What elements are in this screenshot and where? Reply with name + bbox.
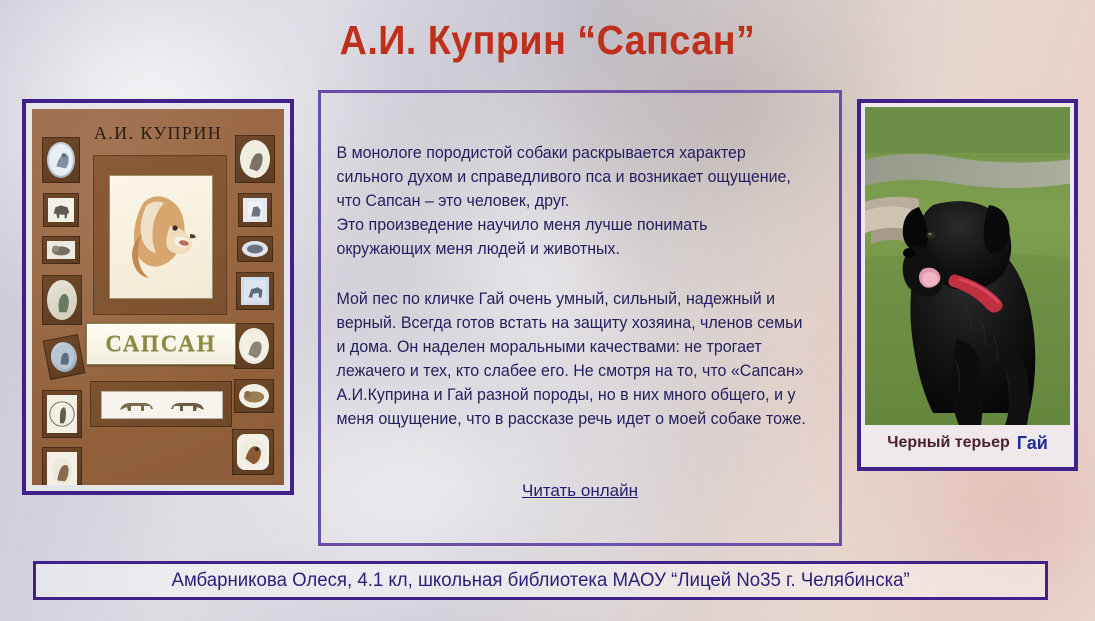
read-online-link[interactable]: Читать онлайн xyxy=(522,481,638,500)
dog-sketch-icon xyxy=(239,328,269,364)
read-online-link-wrapper: Читать онлайн xyxy=(321,481,839,501)
cover-medallion xyxy=(42,275,82,325)
footer-credit-text: Амбарникова Олеся, 4.1 кл, школьная библ… xyxy=(171,570,909,592)
dog-sketch-icon xyxy=(47,142,75,178)
cover-medallion xyxy=(232,429,274,475)
photo-caption: Черный терьер Гай xyxy=(865,425,1070,461)
dog-sketch-icon xyxy=(48,340,79,374)
dachshunds-illustration xyxy=(102,392,222,418)
cover-medallion xyxy=(43,193,79,227)
presentation-slide: А.И. Куприн “Сапсан” А.И. КУПРИН xyxy=(0,0,1095,621)
dog-portrait-illustration xyxy=(118,186,204,290)
book-cover-image: А.И. КУПРИН xyxy=(32,109,284,485)
cover-medallion xyxy=(238,193,272,227)
slide-title: А.И. Куприн “Сапсан” xyxy=(44,16,1051,64)
dog-sketch-icon xyxy=(242,241,268,257)
cover-medallion xyxy=(42,447,82,485)
cover-medallion xyxy=(43,334,86,380)
description-text: В монологе породистой собаки раскрываетс… xyxy=(321,93,823,431)
cover-portrait-image xyxy=(109,175,213,299)
dog-sketch-icon xyxy=(47,280,77,320)
cover-medallion xyxy=(42,236,80,264)
footer-bar: Амбарникова Олеся, 4.1 кл, школьная библ… xyxy=(33,561,1048,600)
dog-sketch-icon xyxy=(239,384,269,408)
black-terrier-photo-illustration xyxy=(865,107,1070,425)
dog-photo xyxy=(865,107,1070,425)
cover-portrait-frame xyxy=(93,155,227,315)
dog-sketch-icon xyxy=(47,395,77,433)
description-text-box: В монологе породистой собаки раскрываетс… xyxy=(318,90,842,546)
dog-sketch-icon xyxy=(237,434,269,470)
cover-medallion xyxy=(235,135,275,183)
cover-medallion xyxy=(42,137,80,183)
dog-sketch-icon xyxy=(240,140,270,178)
cover-medallion xyxy=(234,323,274,369)
photo-caption-breed: Черный терьер xyxy=(887,434,1010,452)
cover-medallion xyxy=(234,379,274,413)
cover-book-title: САПСАН xyxy=(105,331,216,357)
photo-caption-name: Гай xyxy=(1017,433,1048,454)
cover-medallion xyxy=(42,390,82,438)
paragraph-2: Мой пес по кличке Гай очень умный, сильн… xyxy=(337,287,806,431)
cover-medallion xyxy=(236,272,274,310)
dog-sketch-icon xyxy=(243,198,267,222)
book-cover-panel: А.И. КУПРИН xyxy=(22,99,294,495)
cover-medallion xyxy=(237,236,273,262)
cover-title-plaque: САПСАН xyxy=(86,323,236,365)
dog-sketch-icon xyxy=(48,198,74,222)
dog-photo-panel: Черный терьер Гай xyxy=(857,99,1078,471)
dog-sketch-icon xyxy=(241,277,269,305)
dog-sketch-icon xyxy=(47,241,75,259)
dog-sketch-icon xyxy=(47,452,77,485)
cover-strip-frame xyxy=(90,381,232,427)
paragraph-1: В монологе породистой собаки раскрываетс… xyxy=(337,141,806,261)
cover-strip-image xyxy=(101,391,223,419)
